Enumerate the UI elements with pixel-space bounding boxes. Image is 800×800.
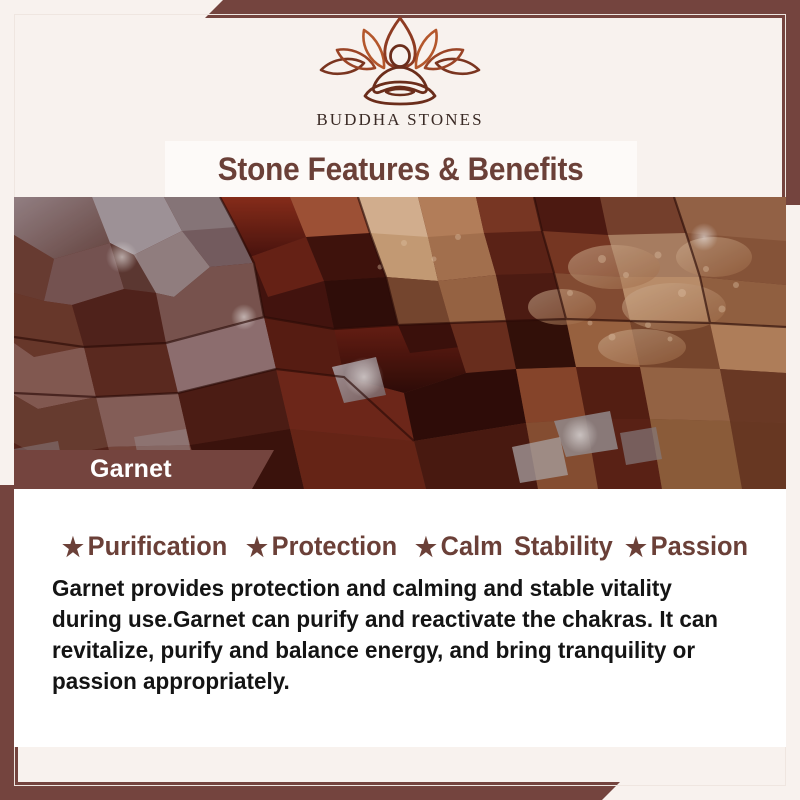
lotus-meditation-figure-icon <box>315 14 485 108</box>
stone-name: Garnet <box>90 455 172 484</box>
benefit-label: Calm <box>441 531 503 562</box>
hero-image <box>14 197 786 489</box>
benefit-label: Purification <box>88 531 228 562</box>
star-icon: ★ <box>62 534 84 560</box>
benefit-label: Protection <box>272 531 398 562</box>
poster-root: BUDDHA STONES Stone Features & Benefits <box>0 0 800 800</box>
benefit-item-protection: ★Protection <box>246 531 397 562</box>
benefit-item-purification: ★Purification <box>62 531 227 562</box>
benefit-item-stability: Stability <box>514 531 613 562</box>
description-text: Garnet provides protection and calming a… <box>52 573 732 697</box>
star-icon: ★ <box>625 534 647 560</box>
star-icon: ★ <box>415 534 437 560</box>
stone-name-ribbon: Garnet <box>14 450 274 489</box>
garnet-crystal-cluster-photo <box>14 197 786 489</box>
content-card: ★Purification ★Protection ★Calm Stabilit… <box>14 489 786 747</box>
title-banner: Stone Features & Benefits <box>165 141 637 197</box>
brand-logo: BUDDHA STONES <box>0 14 800 130</box>
star-icon: ★ <box>246 534 268 560</box>
benefits-list: ★Purification ★Protection ★Calm Stabilit… <box>62 531 756 562</box>
frame-band-bottom-left <box>0 782 620 800</box>
benefit-label: Stability <box>514 531 613 562</box>
benefit-item-calm: ★Calm <box>415 531 503 562</box>
benefit-item-passion: ★Passion <box>625 531 748 562</box>
brand-name: BUDDHA STONES <box>316 110 483 130</box>
page-title: Stone Features & Benefits <box>218 151 584 188</box>
benefit-label: Passion <box>651 531 748 562</box>
